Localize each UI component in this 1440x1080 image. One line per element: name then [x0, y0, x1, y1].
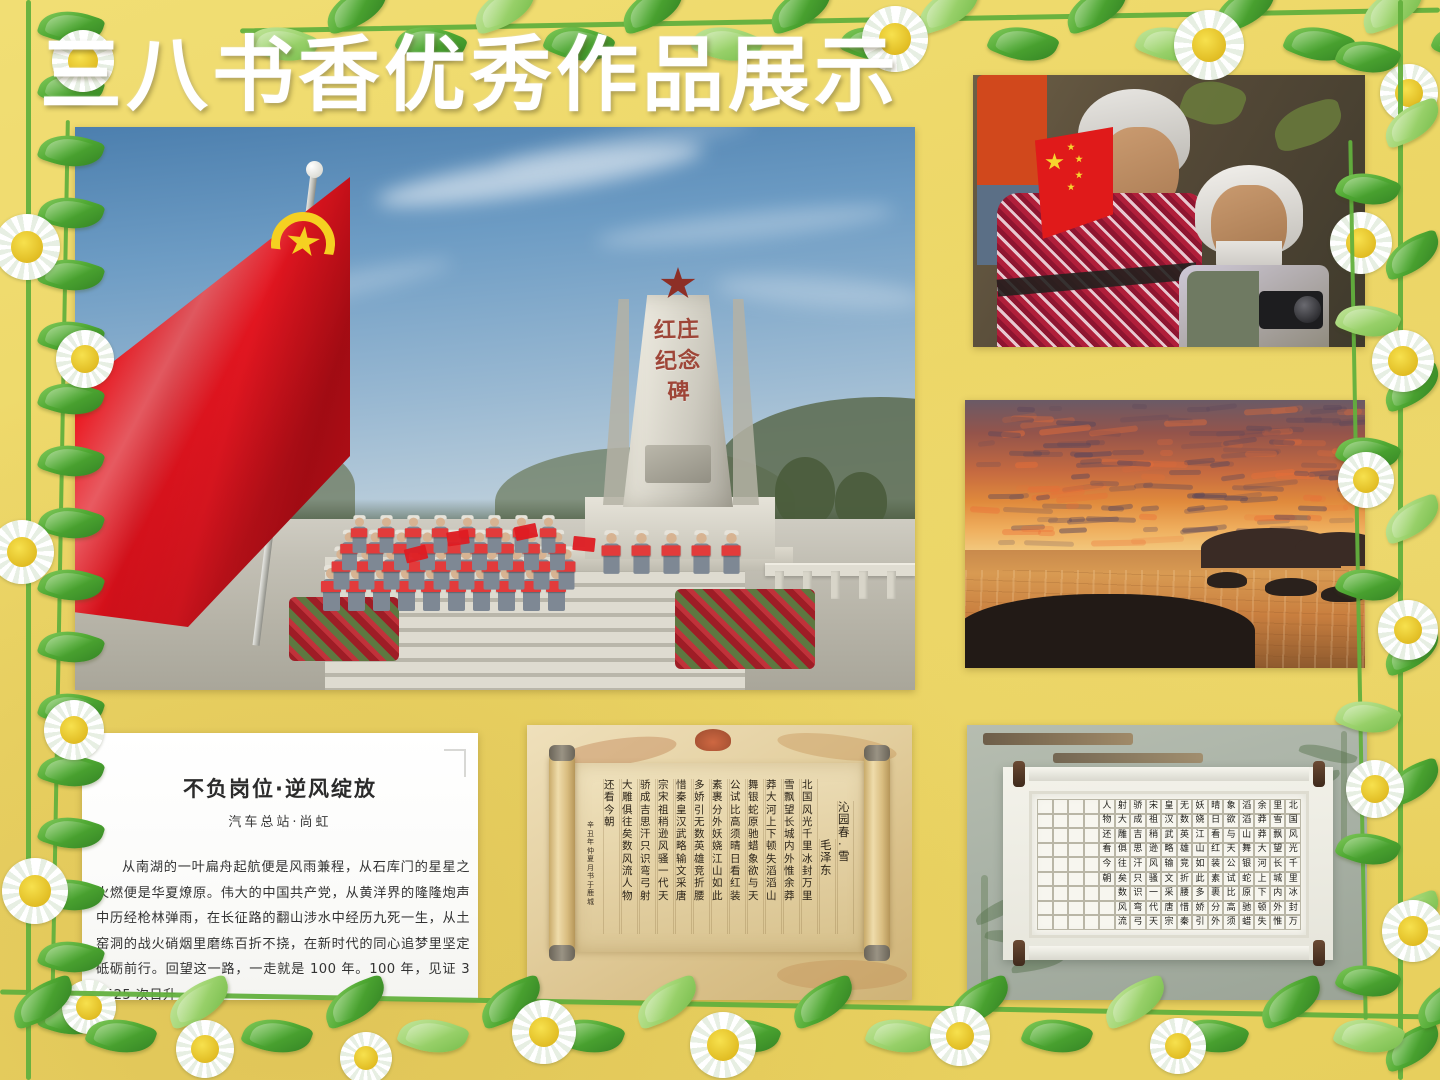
grid-character-cell: 宋	[1146, 799, 1162, 814]
choir-member	[693, 530, 709, 574]
grid-character-cell: 晴	[1208, 799, 1224, 814]
cloud-band	[1294, 470, 1309, 476]
choir-member	[353, 515, 367, 553]
grid-character-cell: 数	[1115, 886, 1131, 901]
grid-character-cell: 城	[1270, 872, 1286, 887]
choir-member	[723, 530, 739, 574]
grid-character-cell: 逊	[1146, 843, 1162, 858]
camera-icon	[1259, 291, 1323, 329]
grid-character-cell: 欲	[1223, 814, 1239, 829]
grid-character-cell: 弯	[1130, 901, 1146, 916]
grid-character-cell	[1084, 857, 1100, 872]
cloud-band	[1160, 450, 1173, 456]
grid-character-cell: 流	[1115, 915, 1131, 930]
grid-character-cell: 里	[1285, 872, 1301, 887]
grid-character-cell	[1068, 886, 1084, 901]
grid-character-cell	[1037, 915, 1053, 930]
cloud-band	[1269, 439, 1296, 445]
choir-member	[633, 530, 649, 574]
grid-character-cell	[1053, 886, 1069, 901]
grid-character-cell: 象	[1223, 799, 1239, 814]
grid-character-cell: 无	[1177, 799, 1193, 814]
scroll-top-bar	[1029, 767, 1309, 781]
scroll-column: 素裹分外妖娆江山如此	[711, 779, 728, 934]
grid-character-cell: 折	[1177, 872, 1193, 887]
bystander-orange-shirt	[977, 75, 1047, 195]
scroll-column: 沁园春·雪	[837, 801, 854, 934]
grid-character-cell: 天	[1223, 843, 1239, 858]
grid-character-cell: 大	[1254, 843, 1270, 858]
grid-character-cell: 试	[1223, 872, 1239, 887]
grid-character-cell	[1068, 799, 1084, 814]
grid-character-cell	[1068, 901, 1084, 916]
grid-character-cell: 输	[1161, 857, 1177, 872]
grid-character-cell: 采	[1161, 886, 1177, 901]
grid-character-cell: 山	[1192, 843, 1208, 858]
grid-character-cell	[1053, 828, 1069, 843]
grid-character-cell: 朝	[1099, 872, 1115, 887]
grid-character-cell: 驰	[1239, 901, 1255, 916]
grid-character-cell: 惜	[1177, 901, 1193, 916]
grid-character-cell: 成	[1130, 814, 1146, 829]
rock-islet	[1265, 578, 1317, 596]
grid-character-cell	[1037, 814, 1053, 829]
grid-character-cell: 看	[1099, 843, 1115, 858]
choir-member	[663, 530, 679, 574]
grid-character-cell	[1068, 814, 1084, 829]
cloud-band	[1323, 405, 1342, 410]
grid-character-cell: 长	[1270, 857, 1286, 872]
scroll-bottom-bar	[1029, 946, 1309, 960]
photo-handwritten-essay: 不负岗位·逆风绽放 汽车总站·尚虹 从南湖的一叶扁舟起航便是风雨兼程，从石库门的…	[82, 733, 478, 1000]
grid-character-cell: 腰	[1177, 886, 1193, 901]
grid-character-cell	[1037, 872, 1053, 887]
scroll-text-columns: 沁园春·雪毛泽东北国风光千里冰封万里雪飘望长城内外惟余莽莽大河上下顿失滔滔山舞银…	[585, 779, 854, 934]
grid-character-cell: 宗	[1161, 915, 1177, 930]
grid-character-cell	[1053, 915, 1069, 930]
grid-character-cell: 须	[1223, 915, 1239, 930]
scroll-column: 公试比高须晴日看红装	[729, 779, 746, 934]
cloud-band	[1307, 515, 1322, 522]
grid-character-cell: 惟	[1270, 915, 1286, 930]
grid-character-cell	[1053, 857, 1069, 872]
cloud-band	[1245, 450, 1277, 457]
photo-elderly-couple	[973, 75, 1365, 347]
grid-character-cell: 武	[1161, 828, 1177, 843]
grid-character-cell: 略	[1161, 843, 1177, 858]
grid-character-cell	[1053, 843, 1069, 858]
cloud-band	[1141, 473, 1165, 480]
cloud-band	[1049, 406, 1062, 411]
grid-character-cell	[1068, 915, 1084, 930]
grid-character-cell: 识	[1130, 886, 1146, 901]
grid-character-cell: 数	[1177, 814, 1193, 829]
calligraphy-panel: 人射骄宋皇无妖晴象滔余里北物大成祖汉数娆日欲滔莽雪国还雕吉稍武英江看与山莽飘风看…	[1029, 791, 1309, 938]
grid-character-cell: 还	[1099, 828, 1115, 843]
grid-character-cell: 思	[1130, 843, 1146, 858]
grid-character-cell: 风	[1115, 901, 1131, 916]
grid-character-cell: 北	[1285, 799, 1301, 814]
cloud-band	[1187, 460, 1235, 466]
grid-character-cell: 江	[1192, 828, 1208, 843]
grid-character-cell: 一	[1146, 886, 1162, 901]
cloud-band	[1143, 527, 1158, 533]
scroll-column: 惜秦皇汉武略输文采唐	[675, 779, 692, 934]
grid-character-cell	[1053, 901, 1069, 916]
grid-character-cell: 射	[1115, 799, 1131, 814]
monument-relief	[645, 445, 711, 483]
grid-character-cell: 稍	[1146, 828, 1162, 843]
choir-member	[380, 515, 394, 553]
baluster	[831, 571, 840, 599]
grid-character-cell	[1068, 843, 1084, 858]
scroll-knob	[1313, 940, 1325, 966]
cloud-band	[1286, 418, 1341, 424]
grid-character-cell: 大	[1115, 814, 1131, 829]
grid-character-cell: 失	[1254, 915, 1270, 930]
grid-character-cell: 雕	[1115, 828, 1131, 843]
grid-character-cell: 山	[1239, 828, 1255, 843]
grid-character-cell: 物	[1099, 814, 1115, 829]
scroll-signature: 辛丑年仲夏月书于鹿城	[587, 821, 600, 906]
grid-character-cell: 冰	[1285, 886, 1301, 901]
photo-sunset-sea	[965, 400, 1365, 668]
grid-character-cell: 代	[1146, 901, 1162, 916]
baluster	[887, 571, 896, 599]
grid-character-cell: 舞	[1239, 843, 1255, 858]
grid-character-cell: 国	[1285, 814, 1301, 829]
grid-character-cell: 看	[1208, 828, 1224, 843]
grid-character-cell: 此	[1192, 872, 1208, 887]
flagpole-finial	[306, 161, 323, 178]
grid-character-cell: 往	[1115, 857, 1131, 872]
scroll-column: 宗宋祖稍逊风骚一代天	[657, 779, 674, 934]
man-vest	[1187, 271, 1259, 347]
tree	[775, 457, 835, 527]
page-title: 三八书香优秀作品展示	[40, 35, 900, 117]
grid-character-cell: 风	[1146, 857, 1162, 872]
grid-character-cell: 裹	[1208, 886, 1224, 901]
grid-character-cell: 风	[1285, 828, 1301, 843]
choir-member	[488, 515, 502, 553]
grid-character-cell: 余	[1254, 799, 1270, 814]
scroll-column: 大雕俱往矣数风流人物	[621, 779, 638, 934]
scroll-knob	[1013, 940, 1025, 966]
scroll-column: 毛泽东	[819, 839, 836, 934]
grid-character-cell: 滔	[1239, 814, 1255, 829]
grid-character-cell: 高	[1223, 901, 1239, 916]
grid-character-cell	[1084, 814, 1100, 829]
grid-character-cell: 骚	[1146, 872, 1162, 887]
grid-character-cell: 银	[1239, 857, 1255, 872]
grid-character-cell: 上	[1254, 872, 1270, 887]
hanging-rod	[1053, 753, 1203, 763]
grid-character-cell: 千	[1285, 857, 1301, 872]
scroll-knob	[1313, 761, 1325, 787]
cloud-band	[1187, 407, 1210, 412]
grid-character-cell: 吉	[1130, 828, 1146, 843]
monument-inscription: 红庄纪念碑	[648, 314, 707, 409]
grid-character-cell: 矣	[1115, 872, 1131, 887]
grid-character-cell: 引	[1192, 915, 1208, 930]
grid-character-cell: 弓	[1130, 915, 1146, 930]
character-grid: 人射骄宋皇无妖晴象滔余里北物大成祖汉数娆日欲滔莽雪国还雕吉稍武英江看与山莽飘风看…	[1037, 799, 1301, 930]
grid-character-cell: 妖	[1192, 799, 1208, 814]
grid-character-cell	[1037, 901, 1053, 916]
grid-character-cell: 光	[1285, 843, 1301, 858]
scroll-column: 北国风光千里冰封万里	[801, 779, 818, 934]
grid-character-cell: 与	[1223, 828, 1239, 843]
grid-character-cell: 蜡	[1239, 915, 1255, 930]
grid-character-cell	[1053, 814, 1069, 829]
cloud-band	[1070, 451, 1093, 457]
scroll-column: 舞银蛇原驰蜡象欲与天	[747, 779, 764, 934]
grid-character-cell: 内	[1270, 886, 1286, 901]
photo-monument-choir: 红庄纪念碑	[75, 127, 915, 690]
scroll-column: 莽大河上下顿失滔滔山	[765, 779, 782, 934]
grid-character-cell: 莽	[1254, 814, 1270, 829]
cloud-band	[1023, 451, 1063, 456]
scroll-roller-right	[864, 753, 890, 953]
grid-character-cell	[1068, 828, 1084, 843]
flower-bed	[675, 589, 815, 669]
grid-character-cell: 万	[1285, 915, 1301, 930]
rock-islet	[1207, 572, 1247, 588]
cloud-band	[1246, 426, 1272, 432]
grid-character-cell: 下	[1254, 886, 1270, 901]
scroll-column: 骄成吉思汗只识弯弓射	[639, 779, 656, 934]
cloud-band	[1163, 419, 1206, 427]
photo-calligraphy-handscroll: 沁园春·雪毛泽东北国风光千里冰封万里雪飘望长城内外惟余莽莽大河上下顿失滔滔山舞银…	[527, 725, 912, 1000]
hanging-rod	[983, 733, 1133, 745]
grid-character-cell: 竞	[1177, 857, 1193, 872]
scroll-column: 还看今朝	[603, 779, 620, 934]
grid-character-cell: 人	[1099, 799, 1115, 814]
grid-character-cell	[1099, 886, 1115, 901]
grid-character-cell	[1037, 857, 1053, 872]
grid-character-cell: 雄	[1177, 843, 1193, 858]
grid-character-cell	[1084, 799, 1100, 814]
bamboo-stalk	[1341, 731, 1347, 851]
grid-character-cell: 汉	[1161, 814, 1177, 829]
grid-character-cell	[1084, 886, 1100, 901]
grid-character-cell	[1068, 857, 1084, 872]
essay-title: 不负岗位·逆风绽放	[82, 773, 478, 803]
baluster	[859, 571, 868, 599]
grid-character-cell	[1084, 915, 1100, 930]
grid-character-cell	[1037, 799, 1053, 814]
grid-character-cell	[1037, 886, 1053, 901]
grid-character-cell: 雪	[1270, 814, 1286, 829]
grid-character-cell	[1053, 872, 1069, 887]
cloud-band	[1157, 438, 1174, 445]
grid-character-cell: 红	[1208, 843, 1224, 858]
scroll-roller-left	[549, 753, 575, 953]
grid-character-cell: 比	[1223, 886, 1239, 901]
grid-character-cell	[1084, 843, 1100, 858]
grid-character-cell: 顿	[1254, 901, 1270, 916]
cloud-band	[976, 462, 1001, 467]
grid-character-cell: 蛇	[1239, 872, 1255, 887]
grid-character-cell	[1037, 828, 1053, 843]
grid-character-cell	[1099, 915, 1115, 930]
ornament-motif	[777, 960, 907, 990]
grid-character-cell: 如	[1192, 857, 1208, 872]
choir-member	[542, 515, 556, 553]
choir-member	[603, 530, 619, 574]
grid-character-cell	[1068, 872, 1084, 887]
grid-character-cell: 英	[1177, 828, 1193, 843]
grid-character-cell: 多	[1192, 886, 1208, 901]
grid-character-cell: 天	[1146, 915, 1162, 930]
bamboo-stalk	[981, 875, 988, 985]
grid-character-cell	[1084, 901, 1100, 916]
grid-character-cell: 秦	[1177, 915, 1193, 930]
grid-character-cell: 娆	[1192, 814, 1208, 829]
grid-character-cell: 只	[1130, 872, 1146, 887]
photo-framed-calligraphy: 人射骄宋皇无妖晴象滔余里北物大成祖汉数娆日欲滔莽雪国还雕吉稍武英江看与山莽飘风看…	[967, 725, 1367, 1000]
grid-character-cell: 娇	[1192, 901, 1208, 916]
cloud-band	[1274, 514, 1312, 520]
cloud-band	[1112, 450, 1144, 456]
essay-byline: 汽车总站·尚虹	[82, 811, 478, 830]
scroll-column: 多娇引无数英雄竞折腰	[693, 779, 710, 934]
grid-character-cell: 骄	[1130, 799, 1146, 814]
grid-character-cell	[1099, 901, 1115, 916]
grid-character-cell: 皇	[1161, 799, 1177, 814]
grid-character-cell	[1084, 828, 1100, 843]
grid-character-cell: 外	[1270, 901, 1286, 916]
distant-island	[1295, 532, 1365, 566]
cloud-band	[1337, 409, 1365, 415]
cloud-band	[997, 539, 1015, 544]
scroll-knob	[1013, 761, 1025, 787]
cloud-band	[1048, 518, 1072, 524]
grid-character-cell: 里	[1270, 799, 1286, 814]
scroll-column: 雪飘望长城内外惟余莽	[783, 779, 800, 934]
grid-character-cell: 今	[1099, 857, 1115, 872]
rock-islet	[1321, 586, 1365, 602]
grid-character-cell: 封	[1285, 901, 1301, 916]
grid-character-cell: 唐	[1161, 901, 1177, 916]
grid-character-cell: 俱	[1115, 843, 1131, 858]
cloud-band	[1017, 407, 1036, 413]
cloud-band	[1132, 404, 1147, 410]
slide-canvas: 红庄纪念碑	[0, 0, 1440, 1080]
grid-character-cell: 河	[1254, 857, 1270, 872]
cloud-band	[1169, 470, 1201, 475]
cloud-band	[1298, 506, 1327, 512]
essay-body-text: 从南湖的一叶扁舟起航便是风雨兼程，从石库门的星星之火燃便是华夏燎原。伟大的中国共…	[96, 855, 470, 1000]
grid-character-cell: 滔	[1239, 799, 1255, 814]
foreground-headland	[965, 594, 1255, 668]
grid-character-cell: 素	[1208, 872, 1224, 887]
grid-character-cell: 外	[1208, 915, 1224, 930]
scroll-seal-emblem	[695, 729, 731, 751]
grid-character-cell: 望	[1270, 843, 1286, 858]
cloud-band	[1038, 530, 1055, 536]
grid-character-cell: 装	[1208, 857, 1224, 872]
grid-character-cell: 文	[1161, 872, 1177, 887]
grid-character-cell: 汗	[1130, 857, 1146, 872]
grid-character-cell	[1084, 872, 1100, 887]
cloud-band	[1015, 462, 1038, 469]
grid-character-cell: 莽	[1254, 828, 1270, 843]
grid-character-cell: 飘	[1270, 828, 1286, 843]
grid-character-cell: 分	[1208, 901, 1224, 916]
grid-character-cell: 公	[1223, 857, 1239, 872]
grid-character-cell	[1053, 799, 1069, 814]
grid-character-cell: 原	[1239, 886, 1255, 901]
cloud-band	[1302, 495, 1321, 502]
youth-league-emblem-icon	[268, 209, 338, 279]
grid-character-cell: 祖	[1146, 814, 1162, 829]
handheld-flag	[572, 536, 595, 552]
grid-character-cell	[1037, 843, 1053, 858]
grid-character-cell: 日	[1208, 814, 1224, 829]
